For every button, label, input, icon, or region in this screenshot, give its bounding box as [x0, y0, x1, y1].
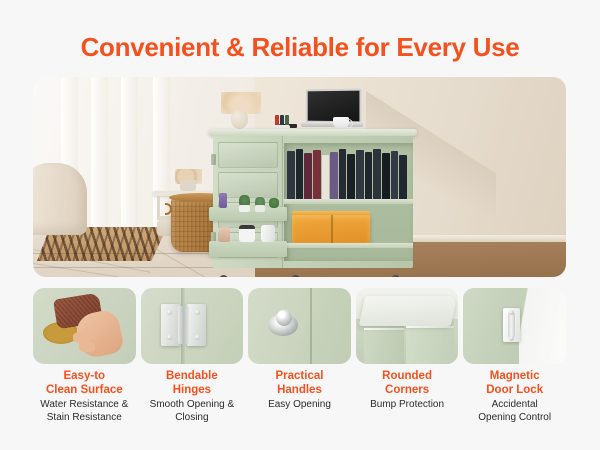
feature-thumb-practical-handles[interactable]: [248, 288, 351, 364]
feature-subtitle: Bump Protection: [356, 399, 459, 412]
book-spine: [391, 151, 399, 199]
feature-caption-practical-handles: Practical Handles Easy Opening: [248, 370, 351, 424]
corner-edge-right: [406, 326, 454, 328]
hinge-screw-1: [167, 310, 172, 315]
book-spine: [373, 149, 381, 199]
hero-product-image: [33, 77, 566, 277]
cart-open-shelving: [284, 143, 413, 261]
door-panel-2: [218, 172, 278, 198]
magnet-strip: [508, 313, 515, 337]
cabinet-side-face: [364, 324, 404, 364]
feature-caption-bendable-hinges: Bendable Hinges Smooth Opening & Closing: [141, 370, 244, 424]
feature-caption-row: Easy-to Clean Surface Water Resistance &…: [33, 370, 566, 424]
feature-thumb-bendable-hinges[interactable]: [141, 288, 244, 364]
caddy-spray-bottle: [219, 227, 230, 242]
caddy-canister-white: [261, 225, 275, 242]
cabinet-top-corner: [359, 296, 457, 326]
feature-caption-rounded-corners: Rounded Corners Bump Protection: [356, 370, 459, 424]
feature-title: Magnetic Door Lock: [463, 370, 566, 397]
finger-2: [79, 342, 95, 352]
curtain-panel-3: [121, 77, 138, 227]
feature-subtitle: Smooth Opening & Closing: [141, 399, 244, 424]
book-spine: [347, 154, 355, 199]
feature-title: Rounded Corners: [356, 370, 459, 397]
feature-subtitle: Easy Opening: [248, 399, 351, 412]
door-seam: [310, 288, 312, 364]
feature-thumb-magnetic-door-lock[interactable]: [463, 288, 566, 364]
feature-title: Practical Handles: [248, 370, 351, 397]
book-spine: [322, 155, 330, 199]
feature-title: Easy-to Clean Surface: [33, 370, 136, 397]
armchair: [33, 163, 87, 235]
caddy-plant-3: [269, 198, 279, 208]
book-spine: [382, 153, 390, 199]
feature-thumb-rounded-corners[interactable]: [356, 288, 459, 364]
feature-caption-magnetic-door-lock: Magnetic Door Lock Accidental Opening Co…: [463, 370, 566, 424]
feature-title: Bendable Hinges: [141, 370, 244, 397]
book-spine: [304, 153, 312, 199]
hinge-screw-3: [195, 310, 200, 315]
book-row: [287, 147, 407, 199]
basket-handle-left: [165, 203, 172, 215]
book-spine: [399, 155, 407, 199]
feature-caption-easy-to-clean-surface: Easy-to Clean Surface Water Resistance &…: [33, 370, 136, 424]
hinge-screw-4: [195, 335, 200, 340]
book-spine: [356, 150, 364, 199]
page-title: Convenient & Reliable for Every Use: [0, 32, 600, 63]
bottom-shelf: [284, 243, 413, 248]
curtain-panel-2: [91, 77, 108, 227]
cart-top-surface: [209, 129, 417, 136]
hinge-screw-2: [167, 335, 172, 340]
flower-pot: [180, 180, 196, 191]
book-spine: [287, 151, 295, 199]
storage-cart: [213, 129, 413, 277]
feature-thumbnail-strip: [33, 288, 566, 364]
ceramic-vase: [231, 110, 248, 129]
book-spine: [365, 152, 373, 199]
middle-shelf: [284, 199, 413, 204]
caster-wheel-right: [391, 275, 400, 277]
feature-subtitle: Water Resistance & Stain Resistance: [33, 399, 136, 424]
product-feature-page: Convenient & Reliable for Every Use: [0, 0, 600, 450]
caddy-canister-dark: [239, 225, 255, 242]
laptop-base: [301, 122, 363, 127]
book-spine: [339, 149, 347, 199]
hero-scene: [33, 77, 566, 277]
hinge-knuckle: [178, 306, 189, 344]
caddy-pot-2: [255, 205, 265, 212]
door-panel-1: [218, 142, 278, 168]
side-tray-lower: [209, 241, 287, 257]
corner-edge-left: [364, 328, 404, 330]
book-spine: [330, 152, 338, 199]
caster-wheel-left: [219, 275, 228, 277]
door-hinge-top: [211, 154, 216, 165]
caddy-bottle: [219, 193, 227, 208]
orange-storage-boxes: [292, 215, 370, 243]
caster-wheel-mid: [291, 275, 300, 277]
book-spine: [296, 149, 304, 199]
cabinet-front-face: [406, 322, 454, 364]
feature-subtitle: Accidental Opening Control: [463, 399, 566, 424]
feature-thumb-easy-to-clean-surface[interactable]: [33, 288, 136, 364]
caddy-pot-1: [239, 205, 250, 212]
book-spine: [313, 150, 321, 199]
coffee-mug: [333, 117, 349, 129]
